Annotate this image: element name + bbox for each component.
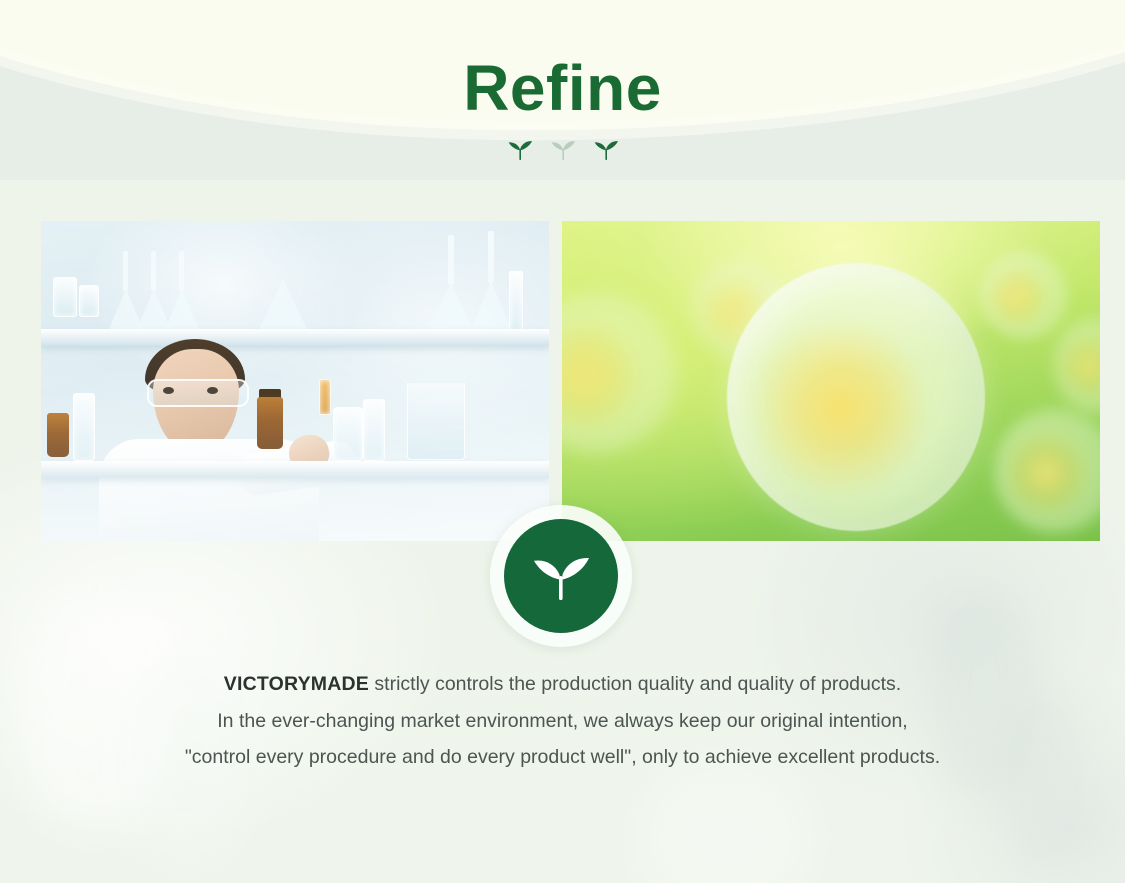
lab-flask [471, 281, 511, 329]
background-blur-shape [640, 760, 810, 883]
description-text: VICTORYMADE strictly controls the produc… [0, 666, 1125, 776]
sprout-icon [523, 545, 599, 607]
amber-reagent-bottle [47, 413, 69, 457]
lab-bottle [73, 393, 95, 461]
sprout-logo-badge [490, 505, 632, 647]
lab-shelf-lower [41, 461, 549, 478]
cell-photo-haze [562, 221, 1100, 541]
lab-beaker [407, 383, 465, 460]
description-line-3-text: "control every procedure and do every pr… [185, 746, 940, 768]
scientist-eye [207, 387, 218, 394]
lab-flask-neck [448, 235, 454, 285]
safety-goggles [147, 379, 249, 407]
sprout-icon-middle [545, 136, 581, 162]
scientist-eye [163, 387, 174, 394]
amber-reagent-bottle [257, 397, 283, 449]
sprout-divider [0, 136, 1125, 162]
description-line-2-text: In the ever-changing market environment,… [217, 710, 907, 732]
brand-name: VICTORYMADE [224, 673, 369, 695]
page-title: Refine [0, 56, 1125, 120]
lab-bottle [363, 399, 385, 461]
description-line-1: VICTORYMADE strictly controls the produc… [0, 666, 1125, 703]
image-gallery [41, 221, 1100, 541]
section-header: Refine [0, 56, 1125, 162]
description-line-1-rest: strictly controls the production quality… [369, 673, 901, 695]
lab-flask-neck [488, 231, 494, 283]
description-line-2: In the ever-changing market environment,… [0, 703, 1125, 740]
cell-microscopy-photo [562, 221, 1100, 541]
laboratory-photo [41, 221, 549, 541]
lab-cylinder [509, 271, 523, 333]
sprout-icon-left [502, 136, 538, 162]
lab-beaker [79, 285, 99, 317]
lab-flask-neck [123, 251, 128, 291]
description-line-3: "control every procedure and do every pr… [0, 739, 1125, 776]
sprout-icon-right [588, 136, 624, 162]
laboratory-photo-scene [41, 221, 549, 541]
lab-pipette [319, 379, 331, 415]
refine-section: Refine [0, 0, 1125, 883]
lab-flask-neck [179, 251, 184, 291]
lab-flask [259, 279, 307, 329]
lab-shelf-upper [41, 329, 549, 346]
cell-photo-scene [562, 221, 1100, 541]
lab-bottle [333, 407, 363, 461]
lab-flask [165, 289, 199, 329]
lab-flask-neck [151, 251, 156, 291]
badge-circle [504, 519, 618, 633]
lab-beaker [53, 277, 77, 317]
lab-flask [429, 283, 473, 329]
